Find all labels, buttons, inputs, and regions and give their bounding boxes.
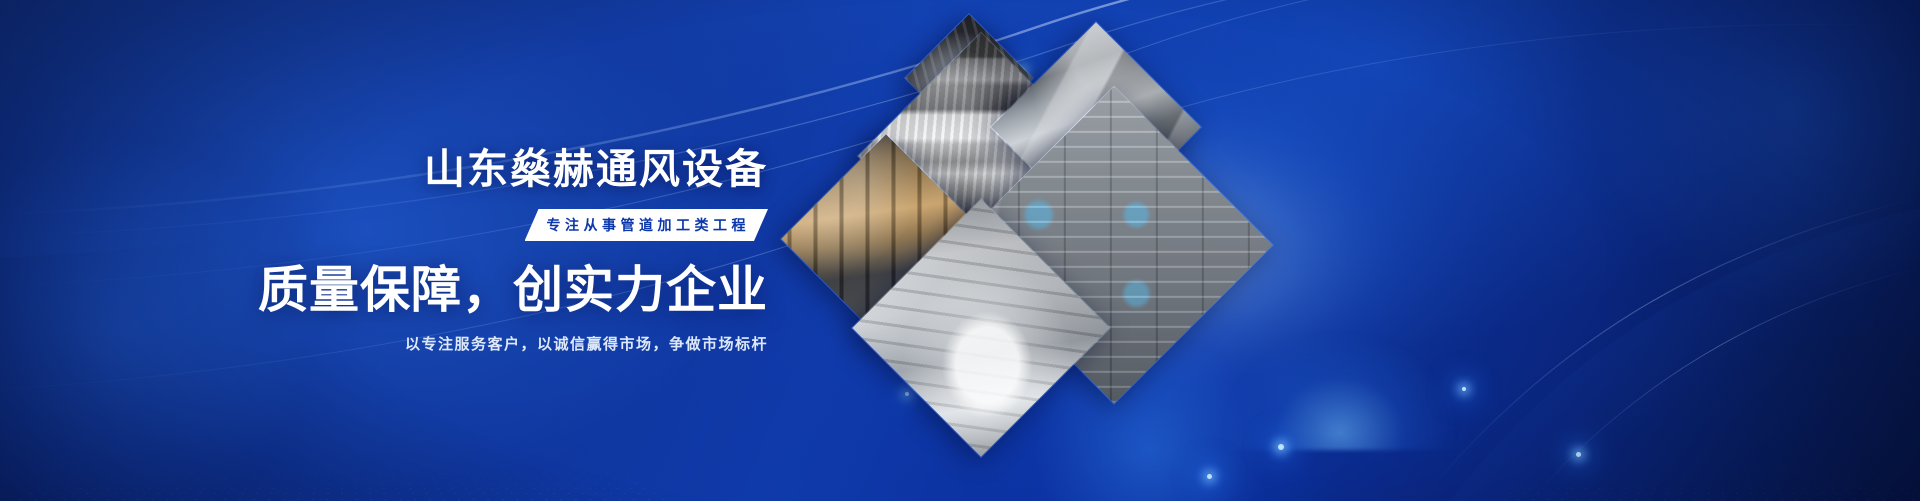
spark-dot bbox=[1462, 387, 1466, 391]
spark-dot bbox=[1576, 452, 1581, 457]
spark-dot bbox=[1278, 444, 1284, 450]
banner-copy: 山东燊赫通风设备 专注从事管道加工类工程 质量保障，创实力企业 以专注服务客户，… bbox=[0, 0, 980, 501]
headline: 质量保障，创实力企业 bbox=[258, 265, 768, 315]
spark-dot bbox=[1207, 474, 1212, 479]
tagline-text: 专注从事管道加工类工程 bbox=[525, 209, 769, 241]
subline: 以专注服务客户，以诚信赢得市场，争做市场标杆 bbox=[405, 337, 768, 352]
dot-grid-right bbox=[1460, 456, 1920, 501]
hero-banner: 山东燊赫通风设备 专注从事管道加工类工程 质量保障，创实力企业 以专注服务客户，… bbox=[0, 0, 1920, 501]
glow-top-right bbox=[1480, 0, 1920, 340]
tagline-badge: 专注从事管道加工类工程 bbox=[525, 209, 769, 241]
brand-title: 山东燊赫通风设备 bbox=[424, 149, 768, 190]
light-beam bbox=[1220, 330, 1460, 450]
